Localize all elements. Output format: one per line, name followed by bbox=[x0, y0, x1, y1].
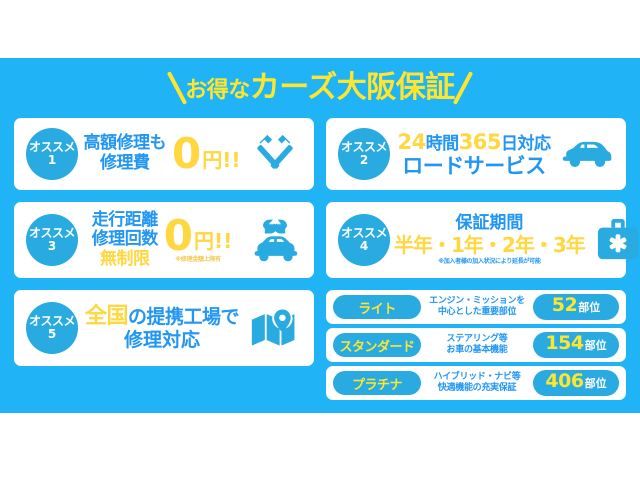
feature-panel-5: オススメ 5 全国の提携工場で 修理対応 bbox=[14, 290, 314, 366]
feature-1-unit: 円!! bbox=[202, 144, 240, 173]
feature-3-zero: 0 bbox=[164, 217, 192, 255]
feature-2-body: 24時間365日対応 ロードサービス bbox=[390, 130, 558, 179]
plan-desc-line2: 中心とした重要部位 bbox=[424, 307, 530, 318]
plan-desc-line2: お車の基本機能 bbox=[424, 345, 530, 356]
plan-desc-line1: ステアリング等 bbox=[424, 334, 530, 345]
badge-number: 4 bbox=[360, 240, 368, 253]
feature-2-days: 365 bbox=[459, 130, 501, 154]
recommend-badge-2: オススメ 2 bbox=[338, 128, 390, 180]
feature-4-line1: 保証期間 bbox=[455, 214, 523, 234]
plan-desc-line1: ハイブリッド・ナビ等 bbox=[424, 372, 530, 383]
car-icon bbox=[558, 137, 616, 171]
feature-3-text: 走行距離 修理回数 無制限 bbox=[92, 211, 158, 270]
recommend-badge-4: オススメ 4 bbox=[338, 214, 390, 266]
wrench-car-icon bbox=[246, 216, 304, 264]
plan-count-badge: 406 部位 bbox=[533, 370, 619, 396]
map-pin-icon bbox=[246, 308, 304, 348]
page-title: お得なカーズ大阪保証 bbox=[0, 62, 640, 114]
feature-3-line1: 走行距離 bbox=[92, 211, 158, 231]
plan-description: ハイブリッド・ナビ等 快適機能の充実保証 bbox=[421, 372, 533, 395]
feature-5-line2: 修理対応 bbox=[124, 330, 200, 352]
feature-panel-1: オススメ 1 高額修理も 修理費 0 円!! bbox=[14, 118, 314, 190]
recommend-badge-1: オススメ 1 bbox=[26, 128, 78, 180]
feature-4-text: 保証期間 半年・1年・2年・3年 ※加入者様の加入状況により延長が可能 bbox=[394, 214, 585, 265]
plan-count-number: 154 bbox=[545, 332, 583, 354]
title-main: カーズ大阪保証 bbox=[250, 70, 455, 105]
plan-count-unit: 部位 bbox=[578, 299, 600, 315]
plan-count-number: 406 bbox=[545, 370, 583, 392]
first-aid-case-icon bbox=[589, 218, 640, 262]
plan-name-badge: ライト bbox=[333, 295, 421, 319]
title-text: お得なカーズ大阪保証 bbox=[185, 73, 455, 103]
plan-name-badge: スタンダード bbox=[333, 333, 421, 357]
slash-right-icon bbox=[453, 71, 473, 105]
feature-5-rest: の提携工場で bbox=[128, 306, 239, 328]
plan-count-number: 52 bbox=[552, 294, 577, 316]
feature-5-highlight: 全国 bbox=[85, 304, 128, 329]
recommend-badge-3: オススメ 3 bbox=[26, 214, 78, 266]
title-prefix: お得な bbox=[185, 78, 250, 103]
plan-row-standard[interactable]: スタンダード ステアリング等 お車の基本機能 154 部位 bbox=[326, 328, 626, 362]
feature-1-line2: 修理費 bbox=[100, 154, 150, 174]
badge-number: 3 bbox=[48, 240, 56, 253]
recommend-badge-5: オススメ 5 bbox=[26, 302, 78, 354]
feature-panel-4: オススメ 4 保証期間 半年・1年・2年・3年 ※加入者様の加入状況により延長が… bbox=[326, 202, 626, 278]
feature-3-line2: 修理回数 bbox=[92, 230, 158, 250]
badge-number: 5 bbox=[48, 328, 56, 341]
plan-count-badge: 52 部位 bbox=[533, 294, 619, 320]
feature-4-body: 保証期間 半年・1年・2年・3年 ※加入者様の加入状況により延長が可能 bbox=[390, 214, 589, 265]
crossed-hammers-icon bbox=[246, 131, 304, 177]
plan-description: ステアリング等 お車の基本機能 bbox=[421, 334, 533, 357]
plan-desc-line1: エンジン・ミッションを bbox=[424, 296, 530, 307]
plan-row-platinum[interactable]: プラチナ ハイブリッド・ナビ等 快適機能の充実保証 406 部位 bbox=[326, 366, 626, 400]
advertisement-banner: お得なカーズ大阪保証 オススメ 1 高額修理も 修理費 0 円!! bbox=[0, 0, 640, 480]
feature-2-hours: 24 bbox=[397, 130, 425, 154]
feature-panel-2: オススメ 2 24時間365日対応 ロードサービス bbox=[326, 118, 626, 190]
badge-number: 1 bbox=[48, 154, 56, 167]
plan-count-unit: 部位 bbox=[585, 337, 607, 353]
feature-5-text: 全国の提携工場で 修理対応 bbox=[85, 304, 239, 351]
plan-count-badge: 154 部位 bbox=[533, 332, 619, 358]
feature-3-note: ※修理金額上限有 bbox=[175, 254, 220, 263]
feature-3-value: 0 円!! bbox=[164, 217, 232, 255]
feature-3-line3: 無制限 bbox=[100, 250, 150, 270]
feature-panel-3: オススメ 3 走行距離 修理回数 無制限 0 円!! ※修理金額上限有 bbox=[14, 202, 314, 278]
feature-4-note: ※加入者様の加入状況により延長が可能 bbox=[438, 259, 540, 266]
feature-1-body: 高額修理も 修理費 0 円!! bbox=[78, 134, 246, 173]
badge-number: 2 bbox=[360, 154, 368, 167]
feature-2-line2: ロードサービス bbox=[402, 154, 546, 178]
feature-4-line2: 半年・1年・2年・3年 bbox=[394, 234, 585, 257]
plan-count-unit: 部位 bbox=[585, 375, 607, 391]
feature-5-body: 全国の提携工場で 修理対応 bbox=[78, 304, 246, 351]
feature-5-line1: 全国の提携工場で bbox=[85, 304, 239, 329]
feature-2-line1: 24時間365日対応 bbox=[397, 130, 550, 155]
plan-description: エンジン・ミッションを 中心とした重要部位 bbox=[421, 296, 533, 319]
plan-row-light[interactable]: ライト エンジン・ミッションを 中心とした重要部位 52 部位 bbox=[326, 290, 626, 324]
feature-3-body: 走行距離 修理回数 無制限 0 円!! ※修理金額上限有 bbox=[78, 211, 246, 270]
feature-3-unit: 円!! bbox=[194, 225, 232, 254]
feature-1-zero: 0 bbox=[172, 135, 200, 173]
feature-2-text: 24時間365日対応 ロードサービス bbox=[397, 130, 550, 179]
feature-2-hours-unit: 時間 bbox=[426, 134, 459, 154]
feature-1-text: 高額修理も 修理費 bbox=[84, 134, 167, 173]
feature-3-value-group: 0 円!! ※修理金額上限有 bbox=[164, 217, 232, 264]
feature-1-value: 0 円!! bbox=[172, 135, 240, 173]
plan-desc-line2: 快適機能の充実保証 bbox=[424, 383, 530, 394]
plan-name-badge: プラチナ bbox=[333, 371, 421, 395]
feature-2-days-unit: 日対応 bbox=[501, 134, 551, 154]
feature-1-line1: 高額修理も bbox=[84, 134, 167, 154]
